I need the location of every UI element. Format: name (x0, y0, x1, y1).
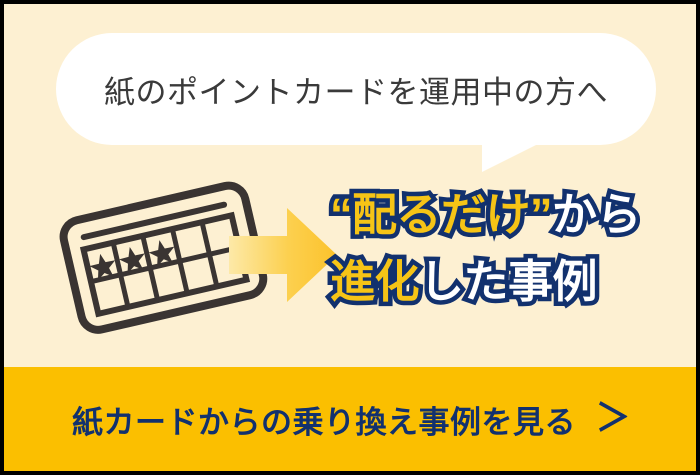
right-arrow-icon (229, 200, 339, 310)
promo-banner: 紙のポイントカードを運用中の方へ (0, 0, 700, 475)
headline-line-2-white: した事例 (419, 256, 597, 307)
cta-label: 紙カードからの乗り換え事例を見る (72, 397, 576, 442)
headline-line-1: “配るだけ”から (330, 182, 680, 249)
cta-inner: 紙カードからの乗り換え事例を見る ＞ (72, 397, 628, 442)
chevron-right-icon: ＞ (596, 400, 631, 438)
headline-line-1-gold: “配るだけ” (330, 189, 552, 240)
speech-bubble: 紙のポイントカードを運用中の方へ (56, 33, 656, 145)
headline: “配るだけ”から 進化した事例 (330, 182, 680, 315)
speech-bubble-tail (482, 141, 544, 172)
speech-bubble-text: 紙のポイントカードを運用中の方へ (56, 33, 656, 145)
cta-button[interactable]: 紙カードからの乗り換え事例を見る ＞ (4, 367, 696, 471)
headline-line-1-white: から (552, 189, 641, 240)
headline-line-2-gold: 進化 (330, 256, 419, 307)
headline-line-2: 進化した事例 (330, 249, 680, 316)
